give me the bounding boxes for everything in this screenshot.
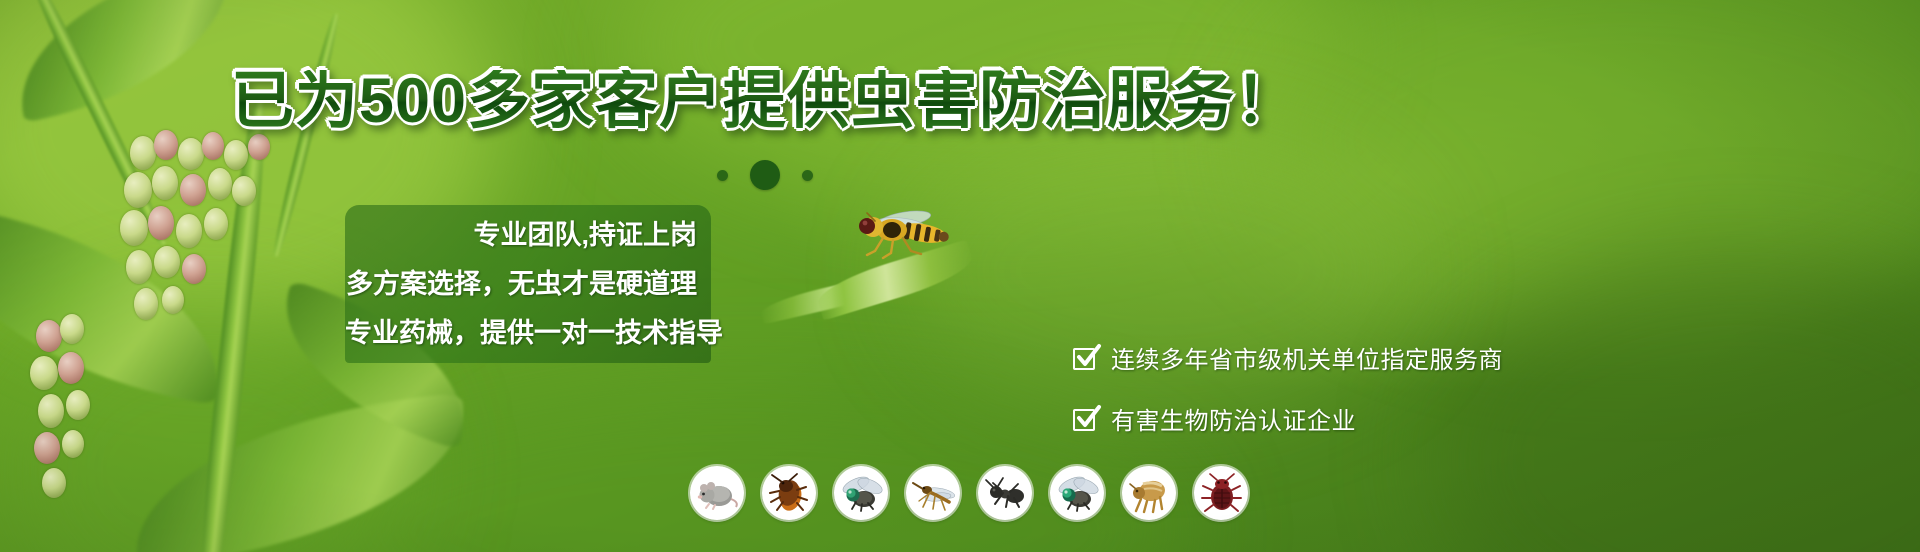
checklist-label: 连续多年省市级机关单位指定服务商 (1111, 340, 1503, 375)
dot-large-icon (750, 160, 780, 190)
ant-icon (978, 466, 1032, 520)
list-item: 有害生物防治认证企业 (1073, 401, 1503, 436)
selling-point-line-3: 专业药械，提供一对一技术指导 (345, 320, 711, 347)
dot-small-icon (802, 170, 813, 181)
rat-icon (690, 466, 744, 520)
leaf-shape (0, 205, 241, 405)
certification-checklist: 连续多年省市级机关单位指定服务商 有害生物防治认证企业 (1073, 340, 1503, 462)
page-title: 已为500多家客户提供虫害防治服务！ (0, 70, 1530, 133)
leaf-shape (124, 393, 477, 552)
fly-icon (834, 466, 888, 520)
selling-point-line-1: 专业团队,持证上岗 (345, 222, 711, 249)
checkbox-checked-icon (1073, 345, 1098, 370)
blowfly-icon (1050, 466, 1104, 520)
list-item: 连续多年省市级机关单位指定服务商 (1073, 340, 1503, 375)
checkbox-checked-icon (1073, 406, 1098, 431)
pest-control-banner: 已为500多家客户提供虫害防治服务！ 专业团队,持证上岗 多方案选择，无虫才是硬… (0, 0, 1920, 552)
selling-point-line-2: 多方案选择，无虫才是硬道理 (345, 271, 711, 298)
hoverfly-photo (845, 205, 955, 260)
checklist-label: 有害生物防治认证企业 (1111, 401, 1356, 436)
dot-small-icon (717, 170, 728, 181)
background-blotch (1430, 250, 1920, 552)
pest-icon-strip (690, 466, 1248, 520)
divider-dots (0, 160, 1530, 190)
flea-icon (1122, 466, 1176, 520)
mosquito-icon (906, 466, 960, 520)
selling-points-panel: 专业团队,持证上岗 多方案选择，无虫才是硬道理 专业药械，提供一对一技术指导 (345, 205, 711, 363)
cockroach-icon (762, 466, 816, 520)
bedbug-icon (1194, 466, 1248, 520)
flower-head (30, 310, 220, 540)
